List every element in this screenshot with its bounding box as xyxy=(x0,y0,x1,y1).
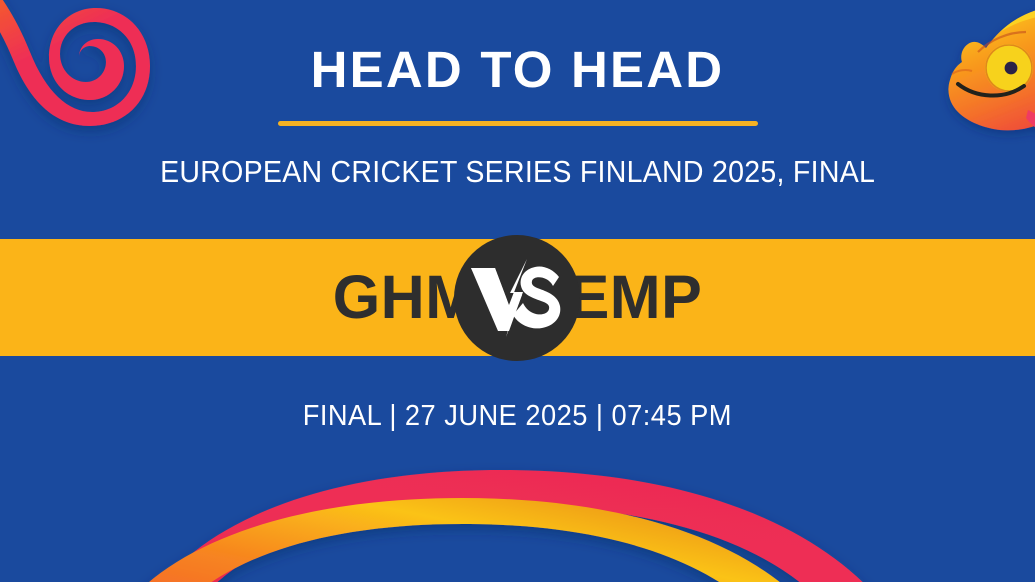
matchup-row: GHM EMP xyxy=(333,267,703,328)
matchup-band: GHM EMP xyxy=(0,239,1035,356)
head-to-head-poster: HEAD TO HEAD EUROPEAN CRICKET SERIES FIN… xyxy=(0,0,1035,582)
team-right-abbr: EMP xyxy=(569,267,703,328)
poster-header: HEAD TO HEAD EUROPEAN CRICKET SERIES FIN… xyxy=(0,0,1035,239)
match-footer: FINAL | 27 JUNE 2025 | 07:45 PM xyxy=(0,356,1035,476)
page-title: HEAD TO HEAD xyxy=(311,44,725,95)
vs-lightning-icon xyxy=(465,259,569,337)
bottom-ribbon-arcs xyxy=(120,470,880,582)
title-divider xyxy=(278,121,758,126)
tournament-subtitle: EUROPEAN CRICKET SERIES FINLAND 2025, FI… xyxy=(160,154,875,190)
match-meta-text: FINAL | 27 JUNE 2025 | 07:45 PM xyxy=(303,400,732,433)
vs-badge xyxy=(454,235,580,361)
